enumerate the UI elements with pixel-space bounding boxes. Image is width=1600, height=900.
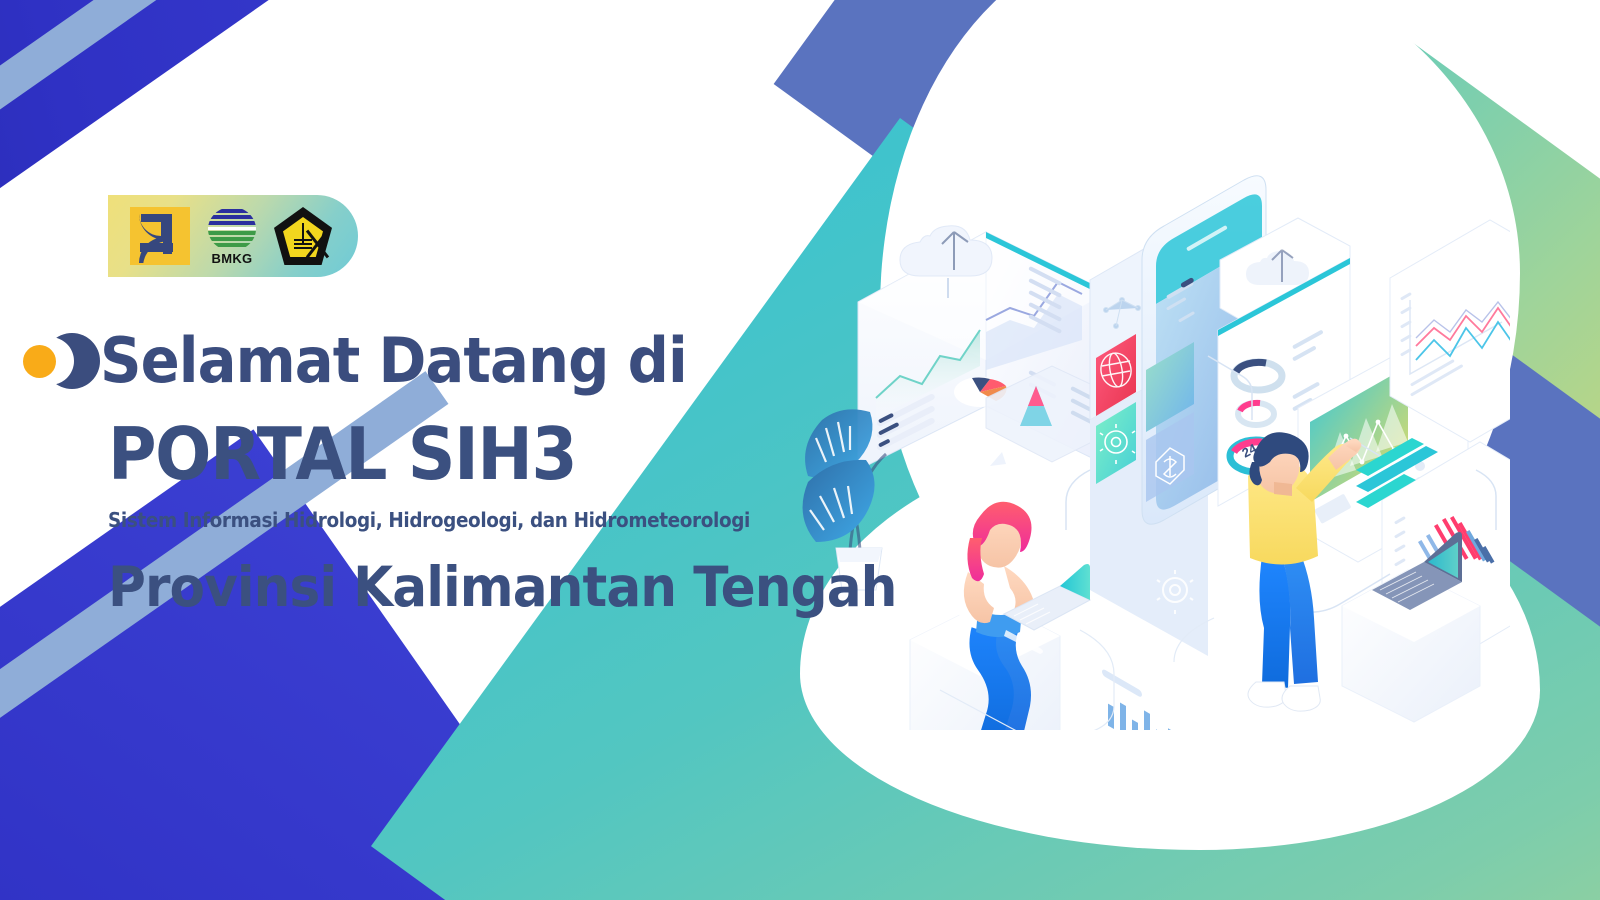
welcome-row: Selamat Datang di bbox=[18, 330, 731, 392]
orange-blue-circle-icon bbox=[18, 333, 90, 389]
isometric-data-dashboard-illustration: 24 % bbox=[790, 170, 1510, 730]
bmkg-emblem-icon bbox=[208, 207, 256, 251]
page-title: PORTAL SIH3 bbox=[108, 418, 576, 490]
logo-bmkg: BMKG bbox=[208, 207, 256, 265]
bottom-left-diagonal-band bbox=[0, 429, 621, 900]
welcome-heading: Selamat Datang di bbox=[100, 330, 687, 392]
bmkg-label: BMKG bbox=[212, 252, 253, 265]
esdm-emblem-icon bbox=[274, 207, 332, 265]
bottom-bar-chart bbox=[1108, 703, 1174, 730]
seated-woman-with-laptop bbox=[910, 502, 1090, 730]
province-name: Provinsi Kalimantan Tengah bbox=[108, 560, 897, 615]
logo-dinas-esdm bbox=[274, 207, 332, 265]
bar-chart-app-tile bbox=[1158, 170, 1181, 190]
page-subtitle: Sistem Informasi Hidrologi, Hidrogeologi… bbox=[108, 508, 750, 532]
logo-pill: BMKG bbox=[108, 195, 358, 277]
hero-banner: 24 % bbox=[0, 0, 1600, 900]
logo-kementerian-pupr bbox=[130, 207, 190, 265]
